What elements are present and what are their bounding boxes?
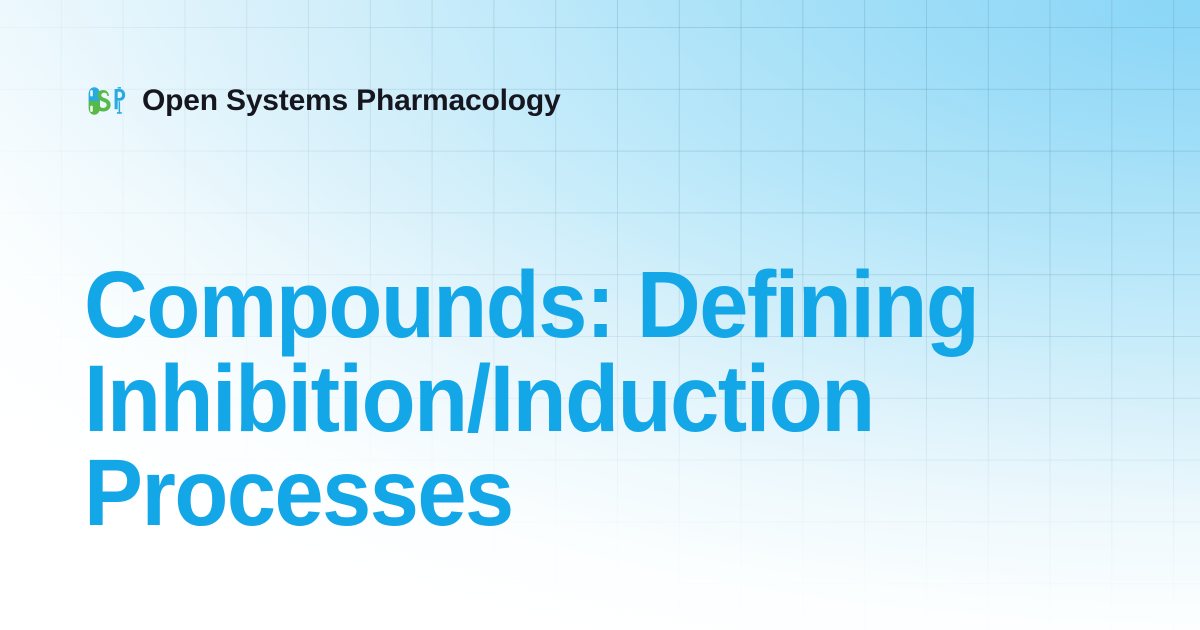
- banner-card: Open Systems Pharmacology Compounds: Def…: [0, 0, 1200, 630]
- capsule-icon: [89, 87, 100, 115]
- page-title-line-2: Inhibition/Induction: [84, 352, 1014, 446]
- letter-p-syringe-icon: [115, 87, 126, 114]
- page-title: Compounds: Defining Inhibition/Induction…: [84, 258, 1084, 540]
- page-title-line-3: Processes: [84, 446, 1014, 540]
- osp-capsule-logo-icon: [84, 85, 126, 117]
- brand-name-text: Open Systems Pharmacology: [142, 86, 561, 116]
- brand-header: Open Systems Pharmacology: [84, 82, 561, 120]
- page-title-line-1: Compounds: Defining: [84, 258, 1014, 352]
